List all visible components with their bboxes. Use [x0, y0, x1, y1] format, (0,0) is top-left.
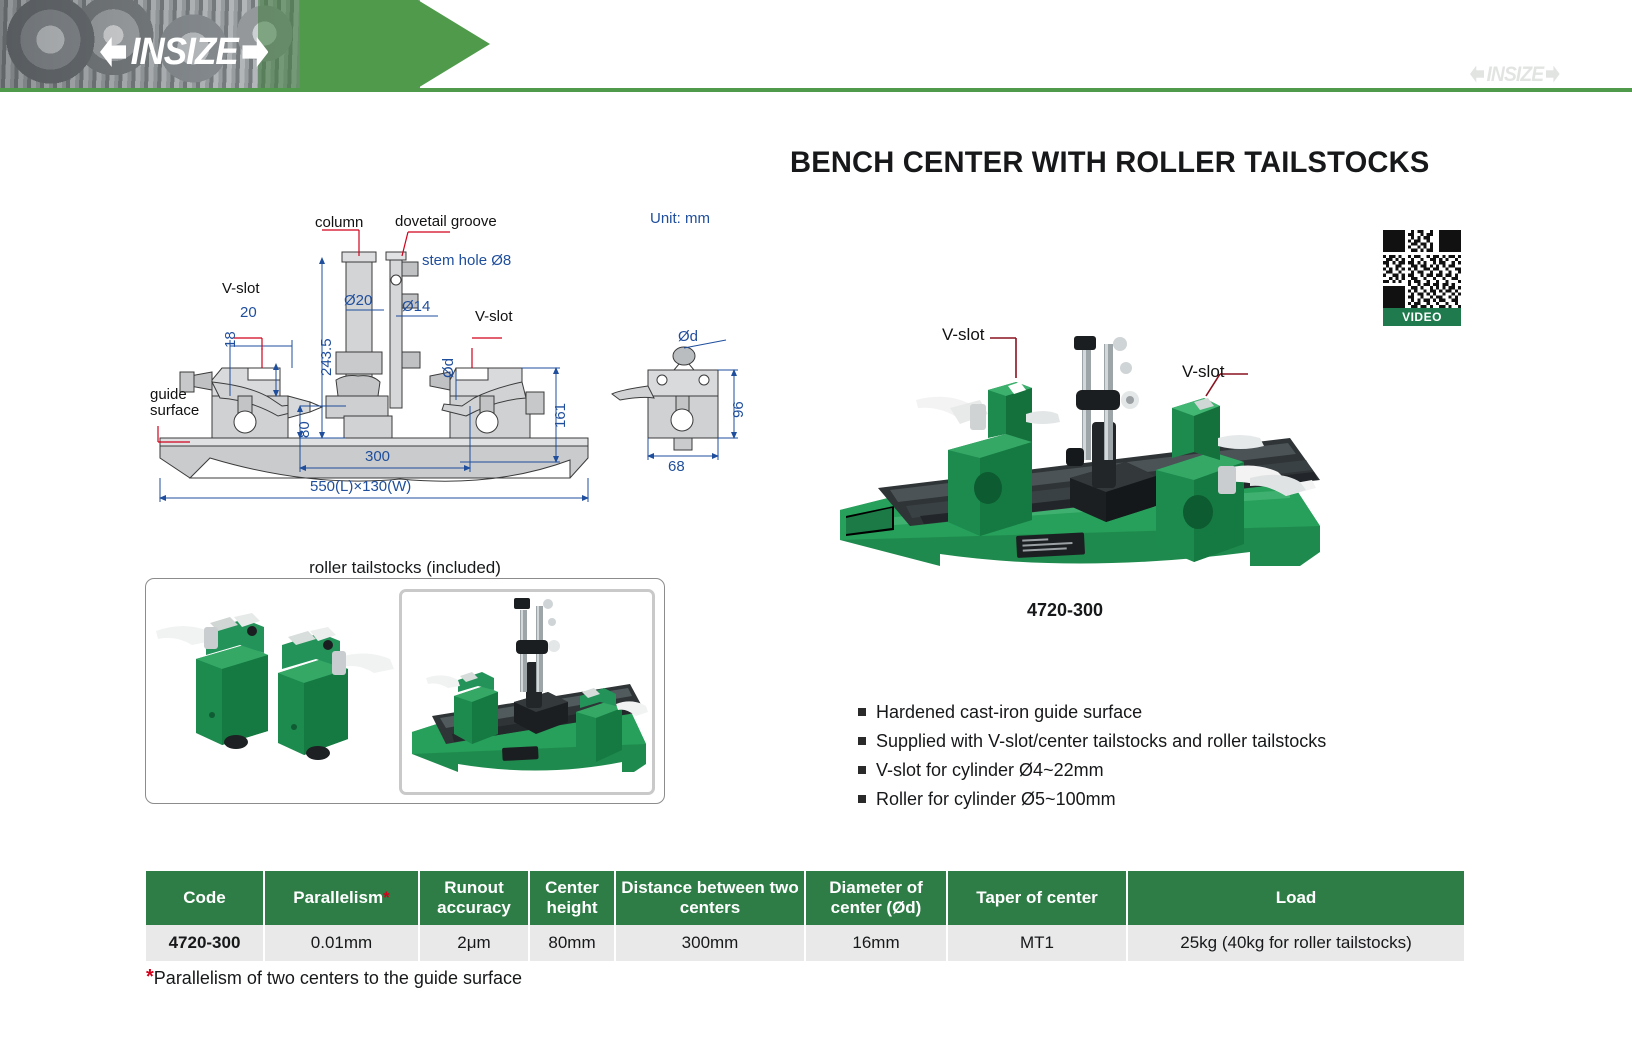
photo-callout-v-slot-left: V-slot	[942, 325, 985, 345]
feature-text: V-slot for cylinder Ø4~22mm	[876, 758, 1104, 783]
square-bullet-icon	[858, 708, 866, 716]
page-title: BENCH CENTER WITH ROLLER TAILSTOCKS	[790, 146, 1429, 180]
cell-center-height: 80mm	[529, 925, 615, 961]
unit-note: Unit: mm	[650, 210, 710, 227]
column-header-distance-between-centers: Distance between two centers	[615, 871, 805, 925]
table-header-row: Code Parallelism* Runout accuracy Center…	[146, 871, 1464, 925]
list-item: V-slot for cylinder Ø4~22mm	[858, 758, 1458, 783]
dim-20: 20	[240, 304, 257, 321]
dim-80: 80	[296, 421, 313, 438]
product-photo: V-slot V-slot	[820, 330, 1350, 600]
dim-d20: Ø20	[344, 292, 372, 309]
header-green-rule	[0, 88, 1632, 92]
roller-tailstocks-assembly-frame	[399, 589, 655, 795]
dim-300: 300	[365, 448, 390, 465]
square-bullet-icon	[858, 737, 866, 745]
insize-logo: INSIZE	[100, 30, 268, 74]
dim-243-5: 243.5	[318, 338, 335, 376]
square-bullet-icon	[858, 795, 866, 803]
column-header-parallelism: Parallelism*	[264, 871, 419, 925]
photo-callout-v-slot-right: V-slot	[1182, 362, 1225, 382]
roller-tailstocks-pair-photo	[152, 587, 400, 797]
qr-code[interactable]	[1383, 230, 1461, 308]
dim-od-side: Ød	[440, 358, 457, 378]
insize-watermark-logo: INSIZE	[1470, 52, 1560, 96]
cell-load: 25kg (40kg for roller tailstocks)	[1127, 925, 1464, 961]
roller-tailstocks-caption: roller tailstocks (included)	[145, 558, 665, 578]
asterisk-marker: *	[383, 888, 390, 907]
arrow-left-icon	[1470, 66, 1484, 83]
technical-drawing: column dovetail groove stem hole Ø8 V-sl…	[150, 200, 750, 530]
column-header-taper-of-center: Taper of center	[947, 871, 1127, 925]
column-header-diameter-of-center: Diameter of center (Ød)	[805, 871, 947, 925]
cell-diameter-of-center: 16mm	[805, 925, 947, 961]
watermark-logo-text: INSIZE	[1486, 66, 1543, 83]
square-bullet-icon	[858, 766, 866, 774]
footnote-asterisk-icon: *	[146, 966, 154, 988]
dim-18: 18	[222, 331, 239, 348]
drawing-label-guide: guide	[150, 386, 187, 403]
drawing-label-column: column	[315, 214, 363, 231]
logo-text: INSIZE	[131, 37, 238, 67]
cell-taper-of-center: MT1	[947, 925, 1127, 961]
footnote: *Parallelism of two centers to the guide…	[146, 968, 522, 989]
dim-overall: 550(L)×130(W)	[310, 478, 411, 495]
dim-od-end: Ød	[678, 328, 698, 345]
dim-68: 68	[668, 458, 685, 475]
column-header-load: Load	[1127, 871, 1464, 925]
header-chevron	[300, 0, 490, 88]
column-header-code: Code	[146, 871, 264, 925]
roller-tailstocks-panel	[145, 578, 665, 804]
feature-text: Hardened cast-iron guide surface	[876, 700, 1142, 725]
list-item: Roller for cylinder Ø5~100mm	[858, 787, 1458, 812]
dim-161: 161	[552, 403, 569, 428]
arrow-left-icon	[100, 37, 126, 67]
cell-runout-accuracy: 2μm	[419, 925, 529, 961]
cell-parallelism: 0.01mm	[264, 925, 419, 961]
product-photo-image	[820, 330, 1350, 600]
dim-d14: Ø14	[402, 298, 430, 315]
column-header-runout-accuracy: Runout accuracy	[419, 871, 529, 925]
product-model-caption: 4720-300	[985, 600, 1145, 621]
qr-code-image	[1383, 230, 1461, 308]
column-header-parallelism-label: Parallelism	[293, 888, 383, 907]
drawing-label-v-slot-right: V-slot	[475, 308, 513, 325]
list-item: Supplied with V-slot/center tailstocks a…	[858, 729, 1458, 754]
cell-distance-between-centers: 300mm	[615, 925, 805, 961]
datasheet-page: INSIZE INSIZE BENCH CENTER WITH ROLLER T…	[0, 0, 1632, 1062]
arrow-right-icon	[1546, 66, 1560, 83]
drawing-label-surface: surface	[150, 402, 199, 419]
column-header-center-height: Center height	[529, 871, 615, 925]
roller-tailstocks-assembly-photo	[402, 592, 652, 792]
page-header: INSIZE	[0, 0, 1632, 92]
dim-96: 96	[730, 401, 747, 418]
footnote-text: Parallelism of two centers to the guide …	[154, 968, 522, 988]
list-item: Hardened cast-iron guide surface	[858, 700, 1458, 725]
video-badge[interactable]: VIDEO	[1383, 308, 1461, 326]
feature-list: Hardened cast-iron guide surface Supplie…	[858, 700, 1458, 816]
specification-table: Code Parallelism* Runout accuracy Center…	[146, 871, 1464, 961]
feature-text: Supplied with V-slot/center tailstocks a…	[876, 729, 1326, 754]
drawing-label-stem-hole: stem hole Ø8	[422, 252, 511, 269]
cell-code: 4720-300	[146, 925, 264, 961]
feature-text: Roller for cylinder Ø5~100mm	[876, 787, 1116, 812]
arrow-right-icon	[242, 37, 268, 67]
drawing-label-dovetail-groove: dovetail groove	[395, 213, 497, 230]
table-row: 4720-300 0.01mm 2μm 80mm 300mm 16mm MT1 …	[146, 925, 1464, 961]
drawing-label-v-slot-left: V-slot	[222, 280, 260, 297]
